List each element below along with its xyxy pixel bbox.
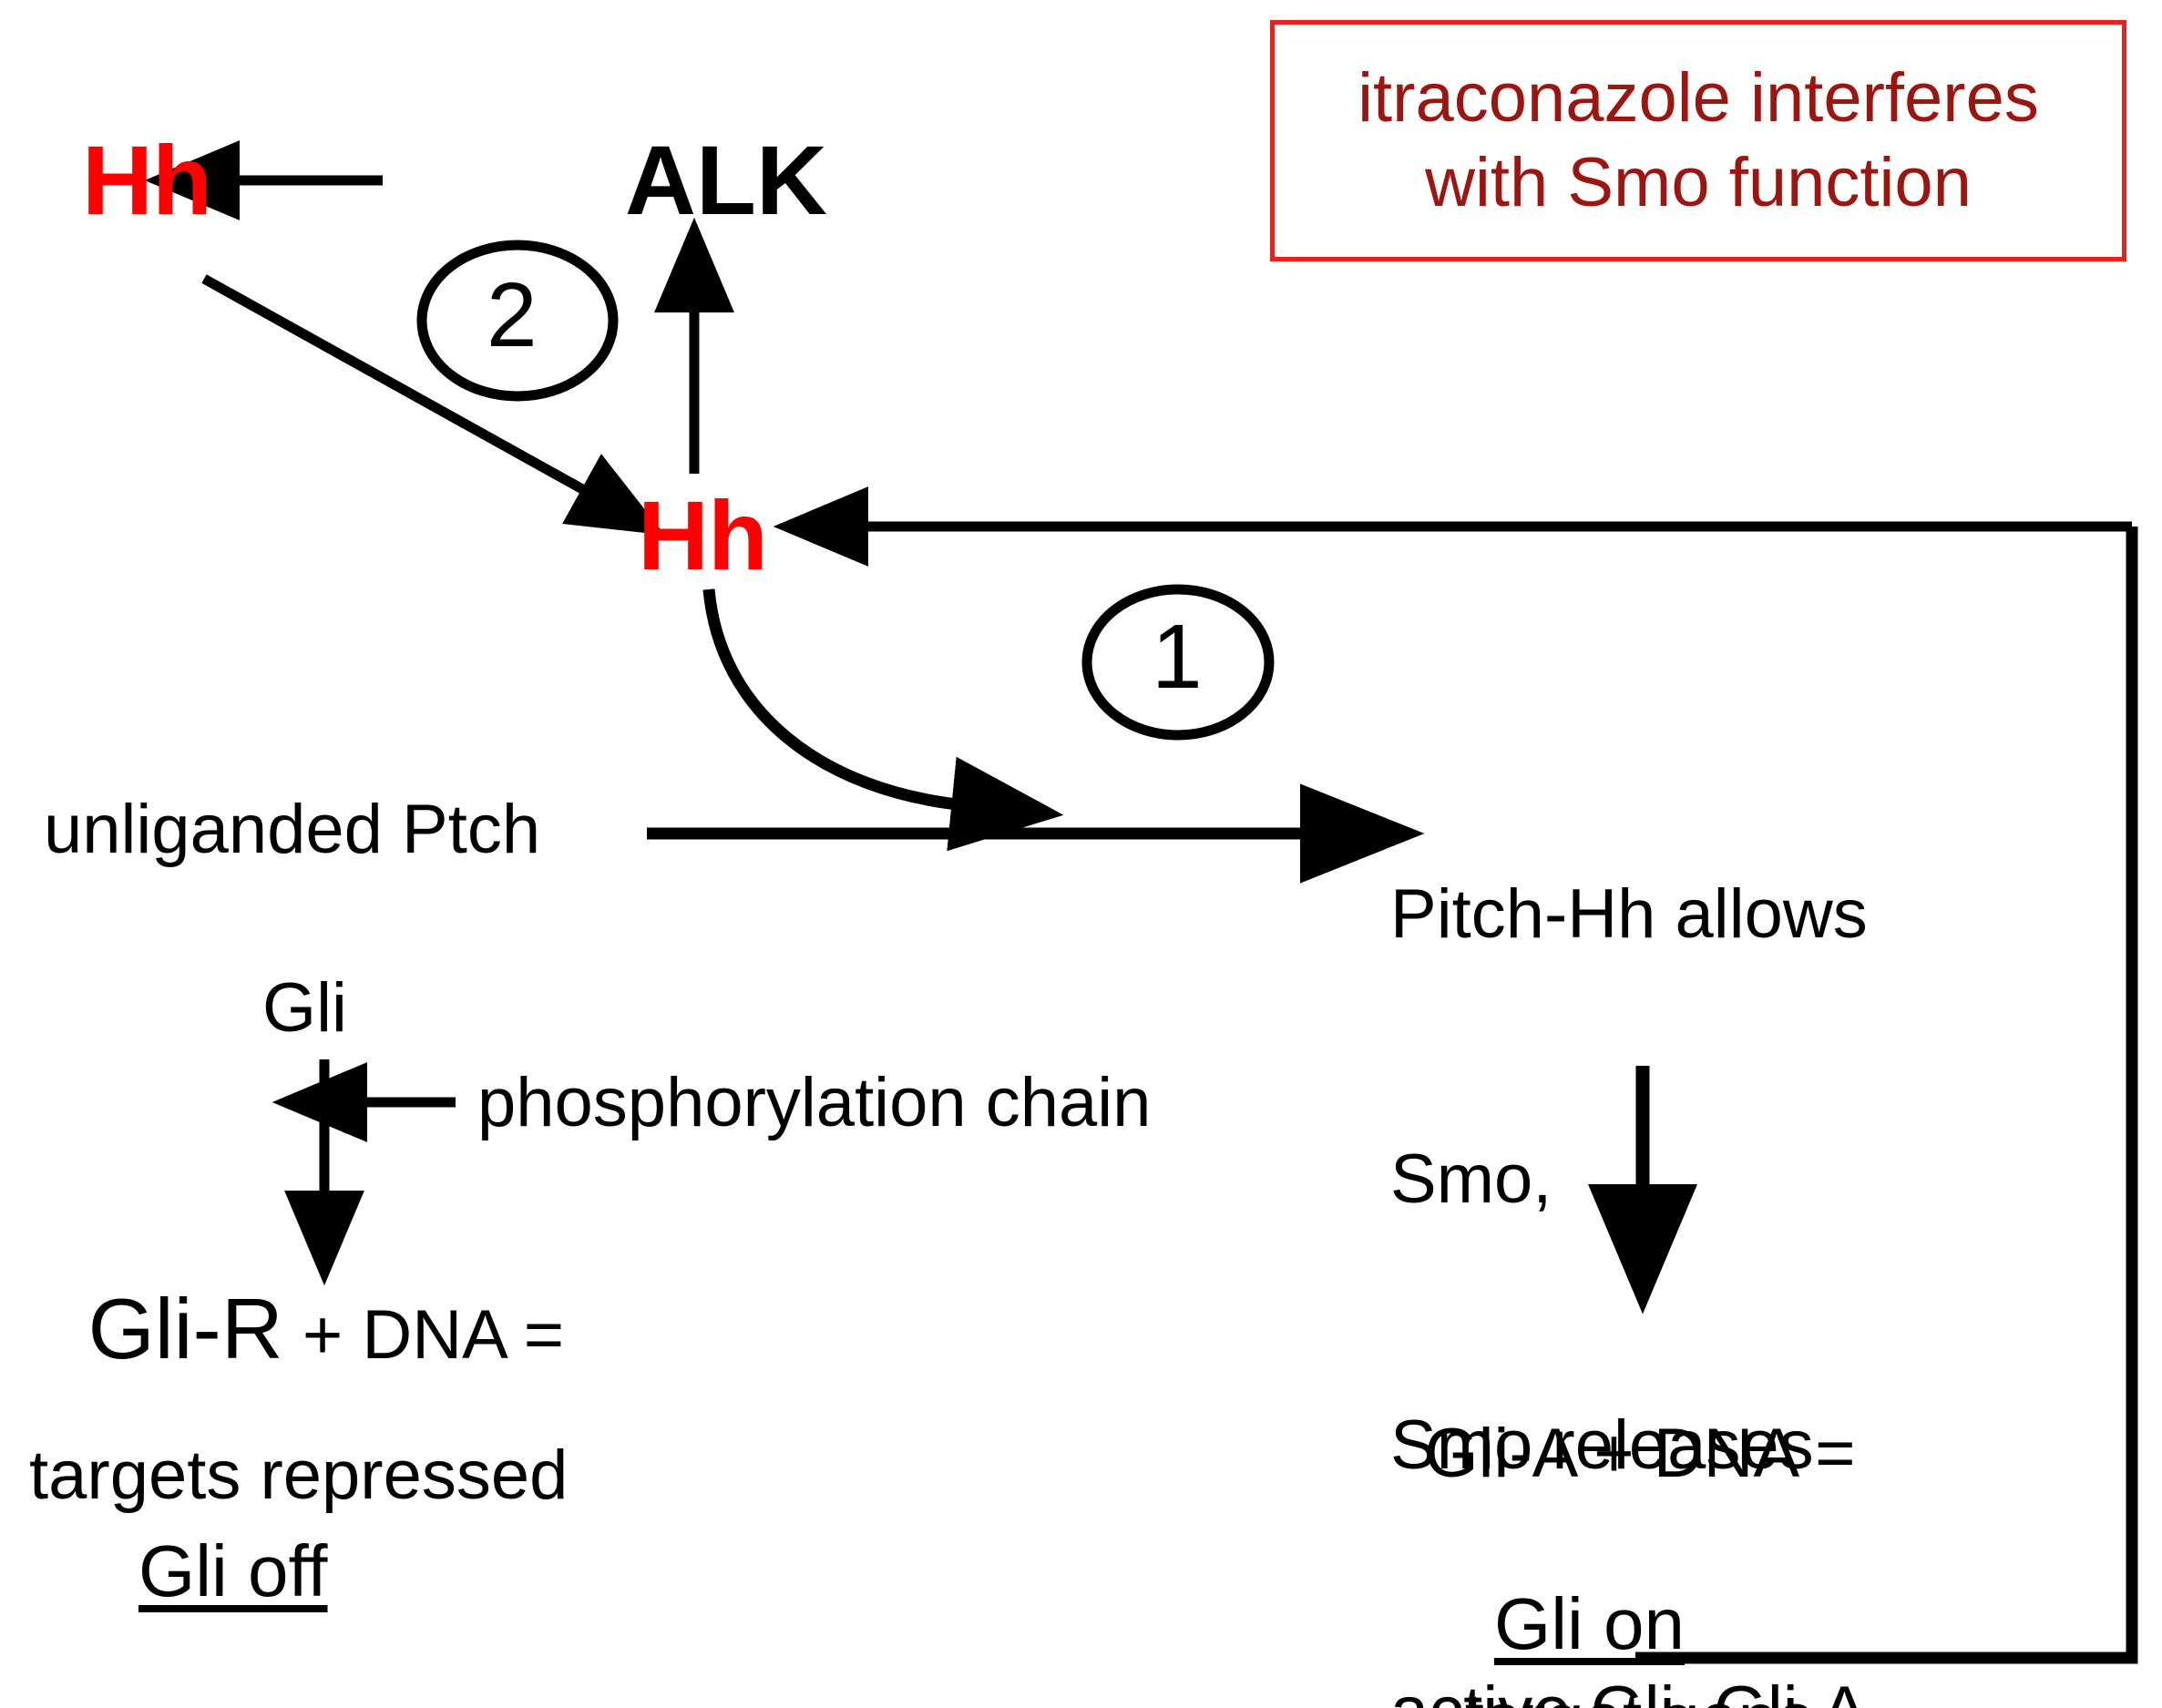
callout-line-2: with Smo function xyxy=(1425,141,1972,226)
left-outcome-line-2: targets repressed xyxy=(29,1437,568,1514)
status-gli-off: Gli off xyxy=(138,1530,328,1612)
smo-explanation-line-1: Pitch-Hh allows xyxy=(1390,870,1868,958)
edge-hh-lower-to-smo xyxy=(709,589,966,805)
smo-explanation-line-2: Smo, xyxy=(1390,1135,1868,1223)
left-outcome-line-1: Gli-R + DNA = xyxy=(64,1264,568,1393)
status-gli-on: Gli on xyxy=(1494,1583,1685,1665)
node-alk: ALK xyxy=(625,126,827,236)
step-label-1: 1 xyxy=(1152,606,1203,708)
left-outcome-block: Gli-R + DNA = targets repressed xyxy=(64,1232,568,1547)
diagram-canvas: itraconazole interferes with Smo functio… xyxy=(0,0,2162,1708)
node-unliganded-ptch: unliganded Ptch xyxy=(44,791,540,868)
node-gli: Gli xyxy=(262,969,347,1047)
left-outcome-gli-r: Gli-R xyxy=(88,1281,283,1376)
callout-line-1: itraconazole interferes xyxy=(1358,56,2039,141)
right-outcome-line-2: target gene xyxy=(1348,1674,1931,1708)
step-label-2: 2 xyxy=(487,264,538,366)
node-phosphorylation-chain: phosphorylation chain xyxy=(477,1064,1151,1141)
left-outcome-dna: + DNA = xyxy=(283,1296,564,1374)
node-hh-upper: Hh xyxy=(82,126,211,236)
node-hh-lower: Hh xyxy=(638,481,767,591)
itraconazole-callout-box: itraconazole interferes with Smo functio… xyxy=(1270,20,2126,261)
right-outcome-line-1: Gli-A + DNA = xyxy=(1348,1409,1931,1498)
